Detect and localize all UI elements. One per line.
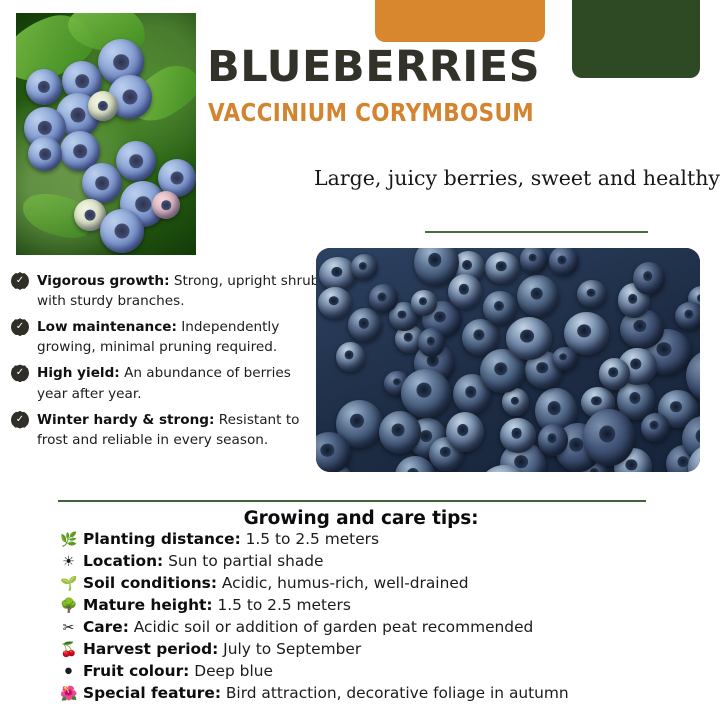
tip-text: Harvest period: July to September bbox=[83, 642, 361, 657]
page-title: BLUEBERRIES bbox=[207, 46, 540, 89]
list-item: ⚫ Fruit colour: Deep blue bbox=[60, 664, 720, 686]
list-item: ✓Vigorous growth: Strong, upright shrub … bbox=[12, 271, 324, 311]
berry-shape bbox=[552, 347, 578, 371]
tip-value: Acidic, humus-rich, well-drained bbox=[217, 574, 469, 592]
tip-value: Sun to partial shade bbox=[163, 552, 323, 570]
feature-list: ✓Vigorous growth: Strong, upright shrub … bbox=[12, 271, 324, 456]
berry-shape bbox=[318, 287, 353, 319]
list-item: ✓Winter hardy & strong: Resistant to fro… bbox=[12, 410, 324, 450]
scissors-icon: ✂ bbox=[60, 621, 77, 635]
hibiscus-icon: 🌺 bbox=[60, 687, 77, 701]
berry-shape bbox=[485, 252, 520, 284]
list-item: 🍒 Harvest period: July to September bbox=[60, 642, 720, 664]
feature-label: Low maintenance: bbox=[37, 319, 177, 335]
list-item: 🌱 Soil conditions: Acidic, humus-rich, w… bbox=[60, 576, 720, 598]
berry-shape bbox=[351, 254, 378, 280]
berry-shape bbox=[577, 280, 606, 308]
bush-photo bbox=[16, 13, 196, 255]
berry-shape bbox=[28, 137, 62, 171]
berry-shape bbox=[446, 412, 484, 452]
tip-value: July to September bbox=[218, 640, 361, 658]
berry-shape bbox=[26, 69, 62, 105]
berry-shape bbox=[483, 291, 516, 324]
seedling-icon: 🌱 bbox=[60, 577, 77, 591]
tip-label: Care: bbox=[83, 618, 129, 636]
berry-shape bbox=[506, 317, 552, 360]
black-circle-icon: ⚫ bbox=[60, 665, 77, 679]
tips-heading: Growing and care tips: bbox=[0, 508, 720, 529]
berry-shape bbox=[633, 262, 665, 295]
check-badge-icon: ✓ bbox=[12, 273, 28, 289]
list-item: 🌳 Mature height: 1.5 to 2.5 meters bbox=[60, 598, 720, 620]
tip-value: Acidic soil or addition of garden peat r… bbox=[129, 618, 533, 636]
check-badge-icon: ✓ bbox=[12, 319, 28, 335]
tip-label: Fruit colour: bbox=[83, 662, 189, 680]
tip-text: Fruit colour: Deep blue bbox=[83, 664, 273, 679]
tips-list: 🌿 Planting distance: 1.5 to 2.5 meters ☀… bbox=[60, 532, 720, 708]
tip-value: 1.5 to 2.5 meters bbox=[241, 530, 379, 548]
herb-icon: 🌿 bbox=[60, 533, 77, 547]
tip-label: Special feature: bbox=[83, 684, 221, 702]
list-item: 🌺 Special feature: Bird attraction, deco… bbox=[60, 686, 720, 708]
berry-shape bbox=[549, 248, 579, 276]
berry-shape bbox=[336, 342, 365, 373]
tip-text: Care: Acidic soil or addition of garden … bbox=[83, 620, 533, 635]
list-item: ✂ Care: Acidic soil or addition of garde… bbox=[60, 620, 720, 642]
divider-top bbox=[425, 231, 648, 233]
berry-shape bbox=[641, 413, 671, 442]
tip-text: Planting distance: 1.5 to 2.5 meters bbox=[83, 532, 379, 547]
berry-shape bbox=[401, 369, 451, 418]
pile-photo bbox=[316, 248, 700, 472]
berry-shape bbox=[379, 411, 422, 454]
sun-icon: ☀ bbox=[60, 555, 77, 569]
berry-shape bbox=[411, 290, 438, 315]
berry-shape bbox=[100, 209, 144, 253]
divider-tips bbox=[58, 500, 646, 502]
tip-text: Location: Sun to partial shade bbox=[83, 554, 324, 569]
berry-shape bbox=[538, 424, 568, 456]
list-item: ✓High yield: An abundance of berries yea… bbox=[12, 363, 324, 403]
list-item: ☀ Location: Sun to partial shade bbox=[60, 554, 720, 576]
orange-decorative-block bbox=[375, 0, 545, 42]
tip-label: Mature height: bbox=[83, 596, 213, 614]
tip-value: Deep blue bbox=[189, 662, 273, 680]
feature-label: High yield: bbox=[37, 365, 120, 381]
berry-shape bbox=[82, 163, 122, 203]
berry-shape bbox=[583, 409, 635, 466]
tagline: Large, juicy berries, sweet and healthy bbox=[314, 166, 720, 191]
check-badge-icon: ✓ bbox=[12, 412, 28, 428]
feature-label: Vigorous growth: bbox=[37, 273, 170, 289]
poster-root: BLUEBERRIES VACCINIUM CORYMBOSUM Large, … bbox=[0, 0, 720, 720]
list-item: ✓Low maintenance: Independently growing,… bbox=[12, 317, 324, 357]
latin-name: VACCINIUM CORYMBOSUM bbox=[208, 100, 534, 125]
tip-value: 1.5 to 2.5 meters bbox=[213, 596, 351, 614]
tip-text: Special feature: Bird attraction, decora… bbox=[83, 686, 569, 701]
check-badge-icon: ✓ bbox=[12, 365, 28, 381]
tip-label: Soil conditions: bbox=[83, 574, 217, 592]
tip-label: Location: bbox=[83, 552, 163, 570]
tip-label: Harvest period: bbox=[83, 640, 218, 658]
berry-shape bbox=[152, 191, 180, 219]
tip-label: Planting distance: bbox=[83, 530, 241, 548]
berry-shape bbox=[500, 418, 536, 453]
tip-text: Soil conditions: Acidic, humus-rich, wel… bbox=[83, 576, 469, 591]
berry-shape bbox=[116, 141, 156, 181]
tree-icon: 🌳 bbox=[60, 599, 77, 613]
green-decorative-block bbox=[572, 0, 700, 78]
tip-text: Mature height: 1.5 to 2.5 meters bbox=[83, 598, 351, 613]
list-item: 🌿 Planting distance: 1.5 to 2.5 meters bbox=[60, 532, 720, 554]
cherries-icon: 🍒 bbox=[60, 643, 77, 657]
berry-shape bbox=[599, 358, 631, 390]
berry-shape bbox=[88, 91, 118, 121]
tip-value: Bird attraction, decorative foliage in a… bbox=[221, 684, 569, 702]
berry-shape bbox=[675, 302, 700, 331]
feature-label: Winter hardy & strong: bbox=[37, 412, 214, 428]
